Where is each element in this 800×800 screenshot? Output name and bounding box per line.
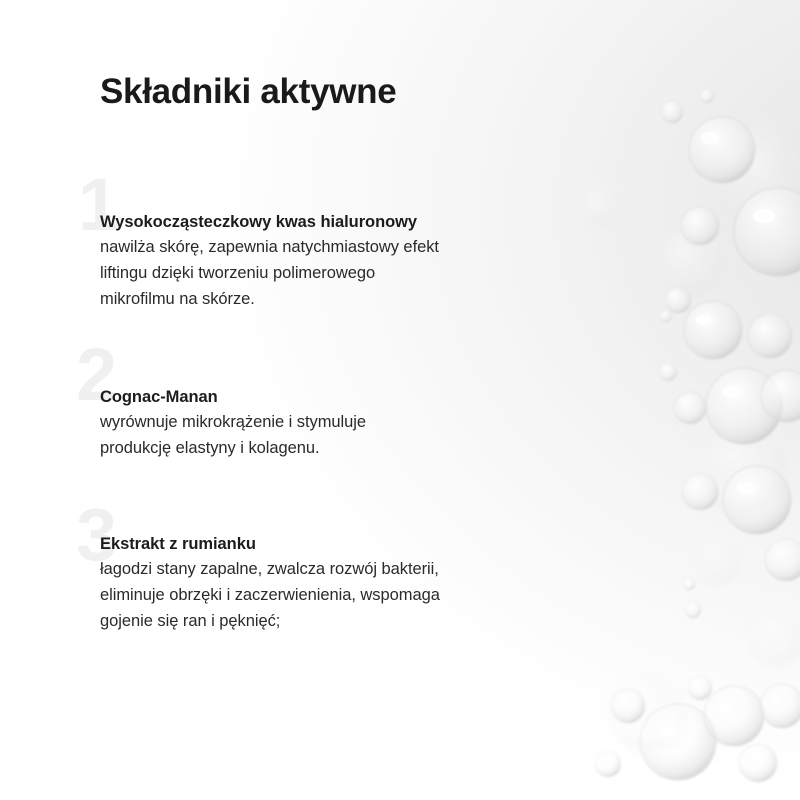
page-title: Składniki aktywne (100, 71, 396, 113)
ingredient-title: Ekstrakt z rumianku (100, 532, 620, 556)
ingredient-description: łagodzi stany zapalne, zwalcza rozwój ba… (100, 557, 620, 634)
ingredient-title: Cognac-Manan (100, 385, 620, 409)
content-column: Składniki aktywne Wysokocząsteczkowy kwa… (0, 0, 800, 800)
ingredient-description: nawilża skórę, zapewnia natychmiastowy e… (100, 235, 620, 312)
ingredients-panel: 1 2 3 Składniki aktywne Wysokocząsteczko… (0, 0, 800, 800)
ingredient-description: wyrównuje mikrokrążenie i stymuluje prod… (100, 410, 620, 461)
ingredient-item-2: Cognac-Manan wyrównuje mikrokrążenie i s… (100, 385, 620, 462)
ingredient-title: Wysokocząsteczkowy kwas hialuronowy (100, 210, 620, 234)
ingredient-item-3: Ekstrakt z rumianku łagodzi stany zapaln… (100, 532, 620, 635)
ingredient-item-1: Wysokocząsteczkowy kwas hialuronowy nawi… (100, 210, 620, 313)
